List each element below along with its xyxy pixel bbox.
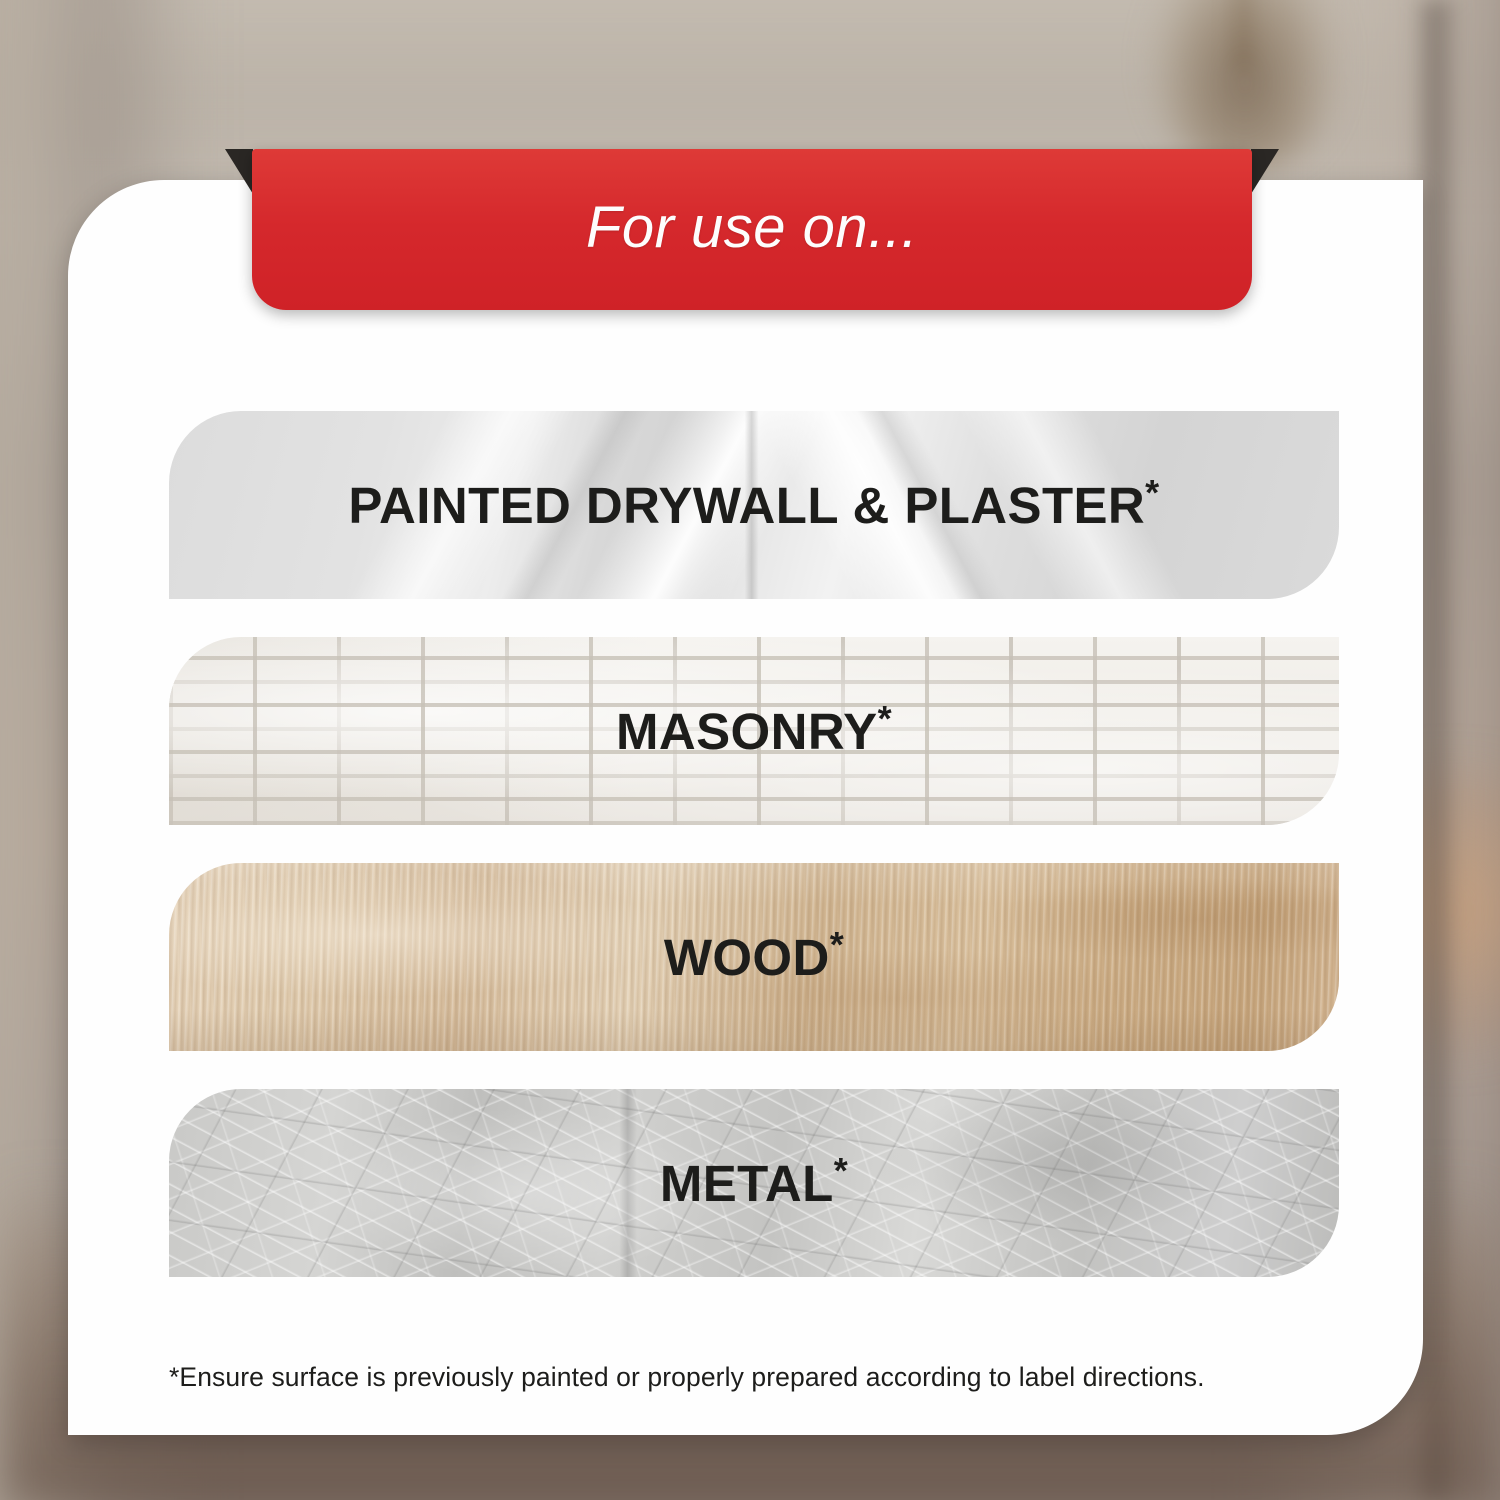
content-card: PAINTED DRYWALL & PLASTER* MASONRY* WOOD… (68, 180, 1423, 1435)
surface-label-asterisk: * (1145, 472, 1159, 513)
surface-label: MASONRY* (616, 706, 892, 757)
surface-label-text: PAINTED DRYWALL & PLASTER (348, 477, 1145, 534)
surface-bar-masonry: MASONRY* (169, 637, 1339, 825)
surface-label-text: METAL (660, 1155, 834, 1212)
infographic-stage: PAINTED DRYWALL & PLASTER* MASONRY* WOOD… (0, 0, 1500, 1500)
surface-label-text: WOOD (664, 929, 830, 986)
ribbon-fold-right-icon (1251, 149, 1279, 194)
surface-bar-painted-drywall-plaster: PAINTED DRYWALL & PLASTER* (169, 411, 1339, 599)
surface-label: PAINTED DRYWALL & PLASTER* (348, 480, 1159, 531)
surface-label-asterisk: * (878, 698, 892, 739)
surface-list: PAINTED DRYWALL & PLASTER* MASONRY* WOOD… (169, 411, 1339, 1315)
surface-label: METAL* (660, 1158, 848, 1209)
header-ribbon: For use on... (252, 149, 1252, 310)
ribbon-body: For use on... (252, 149, 1252, 310)
surface-label-asterisk: * (830, 924, 844, 965)
surface-bar-metal: METAL* (169, 1089, 1339, 1277)
page-title: For use on... (586, 199, 918, 261)
ribbon-fold-left-icon (225, 149, 253, 194)
surface-bar-wood: WOOD* (169, 863, 1339, 1051)
surface-label-asterisk: * (834, 1150, 848, 1191)
footnote-text: *Ensure surface is previously painted or… (169, 1362, 1205, 1393)
surface-label: WOOD* (664, 932, 844, 983)
surface-label-text: MASONRY (616, 703, 878, 760)
